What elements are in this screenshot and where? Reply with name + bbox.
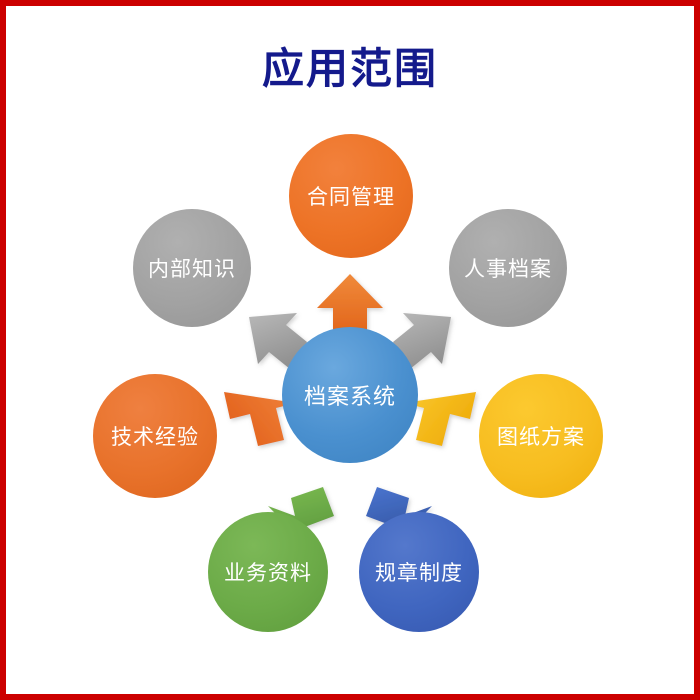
node-label: 档案系统 [304, 379, 396, 411]
node-personnel-records[interactable]: 人事档案 [449, 209, 567, 327]
page-title: 应用范围 [0, 46, 700, 92]
node-internal-knowledge[interactable]: 内部知识 [133, 209, 251, 327]
node-technical-experience[interactable]: 技术经验 [93, 374, 217, 498]
node-label: 人事档案 [464, 253, 552, 283]
node-label: 图纸方案 [497, 421, 585, 451]
node-business-materials[interactable]: 业务资料 [208, 512, 328, 632]
node-rules-regulations[interactable]: 规章制度 [359, 512, 479, 632]
node-label: 内部知识 [148, 253, 236, 283]
diagram-canvas: 应用范围 [0, 0, 700, 700]
arrow-to-contract-management [317, 274, 383, 331]
node-label: 合同管理 [307, 181, 395, 211]
node-center-archive-system[interactable]: 档案系统 [282, 327, 418, 463]
node-label: 规章制度 [375, 557, 463, 587]
node-contract-management[interactable]: 合同管理 [289, 134, 413, 258]
node-label: 业务资料 [224, 557, 312, 587]
node-label: 技术经验 [111, 421, 199, 451]
node-drawings-plans[interactable]: 图纸方案 [479, 374, 603, 498]
